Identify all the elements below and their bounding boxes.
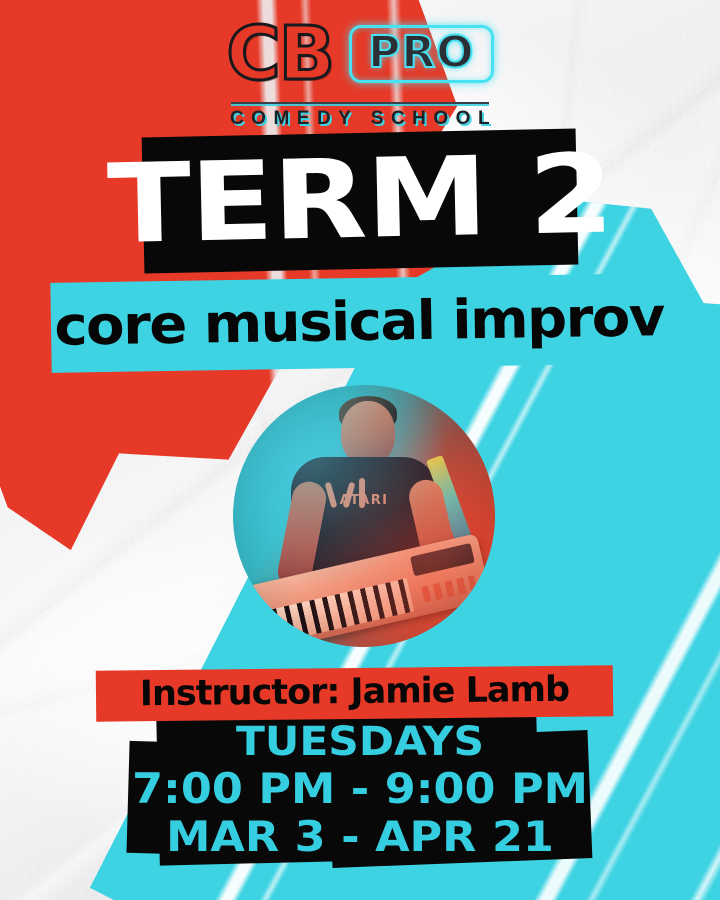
portrait-head [341,401,395,465]
keytar-display-panel [410,543,475,576]
brand-logo: CB PRO COMEDY SCHOOL [0,12,720,130]
schedule-time: 7:00 PM - 9:00 PM [0,768,720,810]
pro-label: PRO [368,27,475,78]
schedule-dates: MAR 3 - APR 21 [0,816,720,858]
instructor-band: Instructor: Jamie Lamb [96,665,614,721]
term-banner: TERM 2 [142,128,579,273]
instructor-portrait: ATARI [233,385,495,647]
subtitle-text: core musical improv [54,290,664,354]
schedule-day: TUESDAYS [0,722,720,762]
term-title: TERM 2 [106,139,613,259]
pro-neon-badge: PRO [349,25,494,83]
logo-marks-row: CB PRO [0,12,720,96]
schedule-details: TUESDAYS 7:00 PM - 9:00 PM MAR 3 - APR 2… [0,722,720,858]
subtitle-band: core musical improv [50,273,668,373]
logo-tagline: COMEDY SCHOOL [0,108,720,130]
poster-canvas: CB PRO COMEDY SCHOOL TERM 2 core musical… [0,0,720,900]
atari-shirt-logo: ATARI [328,493,400,508]
instructor-name-text: Instructor: Jamie Lamb [140,673,569,712]
logo-divider-rule [231,102,489,104]
cb-neon-monogram: CB [226,17,335,91]
keytar-buttons [421,575,477,603]
